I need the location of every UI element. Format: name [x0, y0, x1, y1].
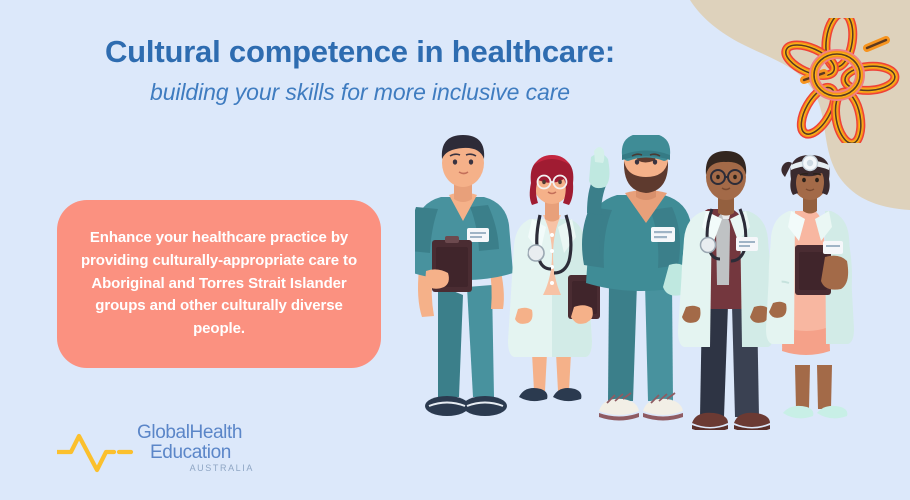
figure-male-surgeon	[582, 135, 696, 421]
logo-wordmark: GlobalHealth Education AUSTRALIA	[137, 424, 255, 473]
logo-line-1: GlobalHealth	[137, 424, 255, 443]
callout-text: Enhance your healthcare practice by prov…	[57, 227, 381, 341]
aboriginal-flower-motif-icon	[770, 18, 900, 143]
banner-canvas: Cultural competence in healthcare: build…	[0, 0, 910, 500]
heartbeat-pulse-icon	[57, 430, 135, 474]
figure-female-doctor-red-hair	[508, 155, 600, 401]
page-title: Cultural competence in healthcare:	[0, 34, 720, 70]
figure-female-doctor-headlamp	[766, 155, 854, 418]
logo-line-2: Education	[150, 443, 255, 462]
page-subtitle: building your skills for more inclusive …	[0, 79, 720, 107]
healthcare-workers-illustration	[415, 135, 895, 430]
figure-male-nurse	[415, 135, 513, 416]
figure-male-doctor-glasses	[678, 151, 774, 430]
callout-box: Enhance your healthcare practice by prov…	[57, 200, 381, 368]
logo-line-3: AUSTRALIA	[137, 463, 255, 473]
headline-block: Cultural competence in healthcare: build…	[0, 34, 720, 106]
brand-logo[interactable]: GlobalHealth Education AUSTRALIA	[57, 424, 227, 480]
